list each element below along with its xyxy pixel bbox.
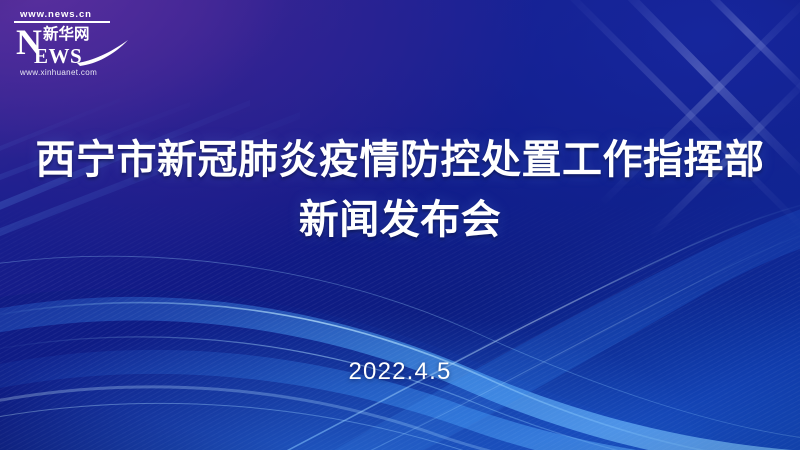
- press-conference-slide: www.news.cn N 新华网 EWS www.xinhuanet.com …: [0, 0, 800, 450]
- logo-brand-english: EWS: [34, 46, 82, 67]
- title-line-primary: 西宁市新冠肺炎疫情防控处置工作指挥部: [0, 140, 800, 180]
- slide-date: 2022.4.5: [0, 358, 800, 386]
- logo-url-top: www.news.cn: [14, 9, 110, 23]
- logo-mark: N 新华网 EWS: [14, 25, 132, 67]
- logo-url-bottom: www.xinhuanet.com: [14, 68, 132, 77]
- slide-title: 西宁市新冠肺炎疫情防控处置工作指挥部 新闻发布会: [0, 140, 800, 240]
- logo-swoosh-icon: [76, 39, 130, 67]
- title-line-secondary: 新闻发布会: [0, 200, 800, 240]
- xinhua-logo: www.news.cn N 新华网 EWS www.xinhuanet.com: [14, 9, 132, 77]
